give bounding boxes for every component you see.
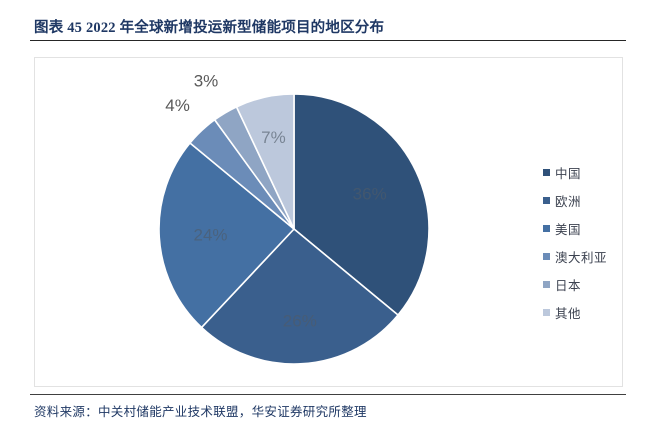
legend-swatch-icon xyxy=(543,169,550,176)
legend-item-label: 美国 xyxy=(555,219,581,238)
title-divider xyxy=(30,40,626,41)
legend-item-label: 澳大利亚 xyxy=(555,247,607,266)
figure-title-row: 图表 45 2022 年全球新增投运新型储能项目的地区分布 xyxy=(34,14,622,38)
pie-plot-area: 36%26%24%4%3%7% xyxy=(35,58,624,388)
pie-slice-label: 3% xyxy=(194,71,219,90)
figure-container: 图表 45 2022 年全球新增投运新型储能项目的地区分布 36%26%24%4… xyxy=(0,0,656,433)
legend-swatch-icon xyxy=(543,281,550,288)
legend-item[interactable]: 日本 xyxy=(543,270,623,298)
legend-item[interactable]: 中国 xyxy=(543,158,623,186)
pie-slice-label: 4% xyxy=(165,96,190,115)
chart-legend: 中国欧洲美国澳大利亚日本其他 xyxy=(543,158,623,326)
legend-swatch-icon xyxy=(543,225,550,232)
figure-source-row: 资料来源：中关村储能产业技术联盟，华安证券研究所整理 xyxy=(34,399,622,421)
pie-slice-label: 26% xyxy=(283,312,317,331)
legend-item[interactable]: 美国 xyxy=(543,214,623,242)
legend-item-label: 欧洲 xyxy=(555,191,581,210)
legend-item[interactable]: 澳大利亚 xyxy=(543,242,623,270)
legend-item[interactable]: 其他 xyxy=(543,298,623,326)
legend-item[interactable]: 欧洲 xyxy=(543,186,623,214)
pie-chart-svg: 36%26%24%4%3%7% xyxy=(35,58,624,388)
legend-item-label: 其他 xyxy=(555,303,581,322)
chart-panel: 36%26%24%4%3%7% 中国欧洲美国澳大利亚日本其他 xyxy=(34,57,623,387)
legend-swatch-icon xyxy=(543,197,550,204)
legend-item-label: 中国 xyxy=(555,163,581,182)
legend-item-label: 日本 xyxy=(555,275,581,294)
pie-slice-label: 24% xyxy=(193,225,227,244)
footer-divider xyxy=(30,394,626,395)
pie-slice-label: 36% xyxy=(353,184,387,203)
legend-swatch-icon xyxy=(543,309,550,316)
legend-swatch-icon xyxy=(543,253,550,260)
source-note: 资料来源：中关村储能产业技术联盟，华安证券研究所整理 xyxy=(34,401,367,420)
pie-slice-label: 7% xyxy=(261,128,286,147)
page-title: 图表 45 2022 年全球新增投运新型储能项目的地区分布 xyxy=(34,16,384,37)
